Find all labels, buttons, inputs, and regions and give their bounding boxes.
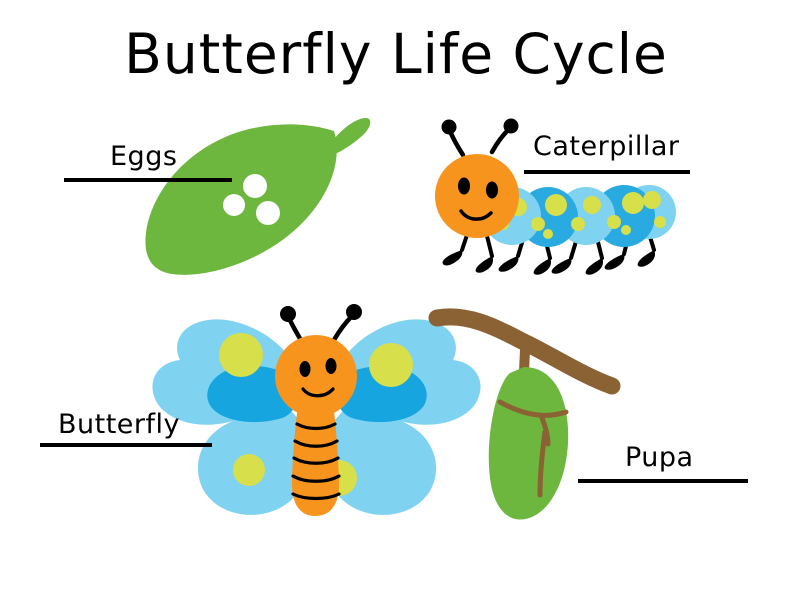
stage-rule-butterfly <box>40 443 212 447</box>
stage-rule-caterpillar <box>524 170 690 174</box>
antenna-tip-icon <box>442 120 457 135</box>
antenna-tip-icon <box>504 119 519 134</box>
stage-rule-eggs <box>64 178 232 182</box>
caterpillar-antennae-icon <box>450 129 509 155</box>
life-cycle-illustrations <box>0 0 792 612</box>
antenna-tip-icon <box>280 306 296 322</box>
antenna-tip-icon <box>346 304 362 320</box>
leaf-with-eggs-illustration <box>145 118 370 275</box>
egg-icon <box>223 194 245 216</box>
caterpillar-head-icon <box>435 154 519 238</box>
stage-label-butterfly: Butterfly <box>58 409 180 440</box>
butterfly-illustration <box>152 304 480 516</box>
stage-label-eggs: Eggs <box>110 141 177 172</box>
stage-label-pupa: Pupa <box>625 442 694 473</box>
chrysalis-body-icon <box>489 367 568 520</box>
butterfly-life-cycle-poster: Butterfly Life Cycle <box>0 0 792 612</box>
caterpillar-eye-icon <box>458 178 470 195</box>
chrysalis-illustration <box>437 317 612 520</box>
leaf-stem-icon <box>333 118 370 154</box>
egg-icon <box>243 174 267 198</box>
butterfly-head-icon <box>275 335 357 417</box>
butterfly-eye-icon <box>326 358 337 374</box>
butterfly-eye-icon <box>300 361 311 377</box>
egg-icon <box>256 201 280 225</box>
stage-rule-pupa <box>578 479 748 483</box>
stage-label-caterpillar: Caterpillar <box>533 131 680 162</box>
caterpillar-eye-icon <box>486 182 498 199</box>
